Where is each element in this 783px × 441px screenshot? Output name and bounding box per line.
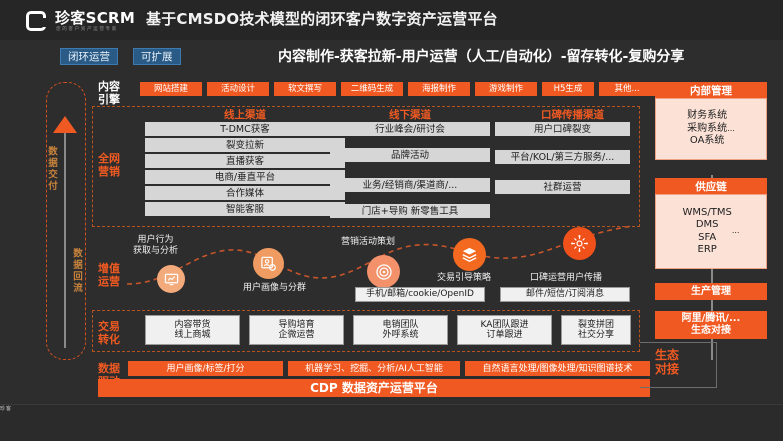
online-item-2[interactable]: 直播获客 xyxy=(145,154,345,168)
wom-item-0[interactable]: 用户口碑裂变 xyxy=(495,122,630,136)
right-bar-production[interactable]: 生产管理 xyxy=(655,283,767,300)
page-title: 基于CMSDO技术模型的闭环客户数字资产运营平台 xyxy=(146,8,498,29)
value-ops-chip-0[interactable]: 手机/邮箱/cookie/OpenID xyxy=(355,287,485,302)
right-panel-head-0[interactable]: 内部管理 xyxy=(655,82,767,98)
online-item-1[interactable]: 裂变拉新 xyxy=(145,138,345,152)
right-bar-ecosystem[interactable]: 阿里/腾讯/...生态对接 xyxy=(655,311,767,339)
value-node-label-0: 用户行为获取与分析 xyxy=(133,235,178,257)
online-item-4[interactable]: 合作媒体 xyxy=(145,186,345,200)
right-panel-head-1[interactable]: 供应链 xyxy=(655,178,767,194)
value-node-label-1: 用户画像与分群 xyxy=(243,283,306,294)
trade-item-3[interactable]: KA团队跟进订单跟进 xyxy=(457,315,552,345)
monitor-analytics-icon xyxy=(157,265,185,293)
flow-subtitle: 内容制作-获客拉新-用户运营（人工/自动化）-留存转化-复购分享 xyxy=(278,46,684,66)
value-node-label-4: 口碑运营用户传播 xyxy=(530,273,602,284)
label-data-return: 数据回流 xyxy=(69,248,83,294)
brand-tagline: 您的客户资产运营专家 xyxy=(56,26,118,32)
tech-bar-1[interactable]: 机器学习、挖掘、分析/AI人工智能 xyxy=(288,361,460,376)
value-node-label-3: 交易引导策略 xyxy=(437,273,491,284)
label-trade-conversion: 交易转化 xyxy=(98,320,120,346)
online-item-3[interactable]: 电商/垂直平台 xyxy=(145,170,345,184)
content-engine-item-6[interactable]: H5生成 xyxy=(542,82,594,96)
right-panel-body-1: WMS/TMSDMSSFAERP... xyxy=(655,194,767,269)
content-engine-item-0[interactable]: 网站搭建 xyxy=(140,82,202,96)
footer-bar: Truland 珍客 Marketingforce xyxy=(0,404,783,441)
content-engine-item-5[interactable]: 游戏制作 xyxy=(475,82,537,96)
slide-canvas: 珍客SCRM 您的客户资产运营专家 基于CMSDO技术模型的闭环客户数字资产运营… xyxy=(0,0,783,441)
rail-connector-line xyxy=(64,133,66,348)
tech-bar-2[interactable]: 自然语言处理/图像处理/知识图谱技术 xyxy=(465,361,650,376)
brand-name: 珍客SCRM xyxy=(55,7,135,28)
label-content-engine: 内容引擎 xyxy=(98,80,120,106)
label-value-ops: 增值运营 xyxy=(98,262,120,288)
trade-item-0[interactable]: 内容带货线上商城 xyxy=(145,315,240,345)
data-flow-arrow-icon xyxy=(53,116,77,133)
content-engine-item-2[interactable]: 软文撰写 xyxy=(274,82,336,96)
content-engine-item-7[interactable]: 其他... xyxy=(599,82,655,96)
wom-item-2[interactable]: 社群运营 xyxy=(495,180,630,194)
offline-item-3[interactable]: 门店+导购 新零售工具 xyxy=(330,204,490,218)
offline-item-0[interactable]: 行业峰会/研讨会 xyxy=(330,122,490,136)
value-ops-chip-1[interactable]: 邮件/短信/订阅消息 xyxy=(500,287,630,302)
trade-item-2[interactable]: 电销团队外呼系统 xyxy=(353,315,448,345)
cdp-platform-bar[interactable]: CDP 数据资产运营平台 xyxy=(98,379,650,397)
header-bar: 珍客SCRM 您的客户资产运营专家 基于CMSDO技术模型的闭环客户数字资产运营… xyxy=(0,0,783,40)
tag-closed-loop[interactable]: 闭环运营 xyxy=(60,48,118,65)
trade-item-1[interactable]: 导购培育企微运营 xyxy=(249,315,344,345)
layers-icon xyxy=(453,238,486,271)
label-omnichannel-marketing: 全网营销 xyxy=(98,152,120,178)
label-eco-connection: 生态对接 xyxy=(655,348,679,376)
offline-item-2[interactable]: 业务/经销商/渠道商/... xyxy=(330,178,490,192)
wom-item-1[interactable]: 平台/KOL/第三方服务/... xyxy=(495,150,630,164)
content-engine-item-3[interactable]: 二维码生成 xyxy=(341,82,403,96)
share-network-icon xyxy=(563,227,596,260)
tech-bar-0[interactable]: 用户画像/标签/打分 xyxy=(128,361,283,376)
offline-item-1[interactable]: 品牌活动 xyxy=(330,148,490,162)
label-data-delivery: 数据交付 xyxy=(44,146,58,192)
online-item-5[interactable]: 智能客服 xyxy=(145,202,345,216)
value-node-label-2: 营销活动策划 xyxy=(341,237,395,248)
truland-logo-sub: 珍客 xyxy=(0,405,783,412)
online-item-0[interactable]: T-DMC获客 xyxy=(145,122,345,136)
tag-extensible[interactable]: 可扩展 xyxy=(133,48,181,65)
right-panel-body-0: 财务系统采购系统OA系统... xyxy=(655,98,767,160)
bracket-logo-icon xyxy=(26,11,46,31)
content-engine-item-4[interactable]: 海报制作 xyxy=(408,82,470,96)
content-engine-item-1[interactable]: 活动设计 xyxy=(207,82,269,96)
user-profile-icon xyxy=(253,248,284,279)
target-icon xyxy=(367,255,400,288)
trade-item-4[interactable]: 裂变拼团社交分享 xyxy=(561,315,631,345)
